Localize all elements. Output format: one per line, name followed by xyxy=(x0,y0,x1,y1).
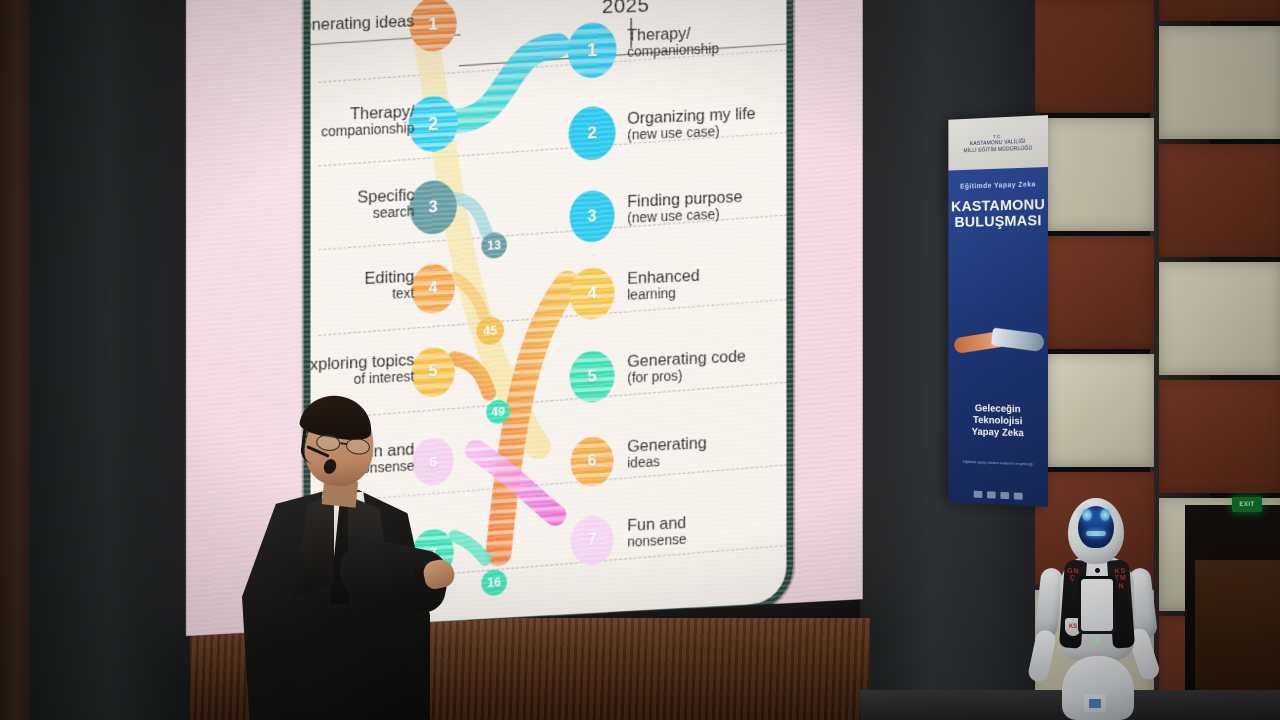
banner-kicker: Eğitimde Yapay Zeka xyxy=(948,181,1048,191)
wall-panel xyxy=(1035,354,1154,467)
robot-chest-tablet[interactable] xyxy=(1078,576,1116,634)
exit-sign-label: EXIT xyxy=(1239,502,1254,508)
right-label-2: Organizing my life(new use case) xyxy=(627,103,792,143)
left-dark-wall-panel xyxy=(30,0,190,720)
banner-body: Eğitimde Yapay Zeka KASTAMONU BULUŞMASI … xyxy=(948,167,1048,507)
wall-panel xyxy=(1159,380,1280,493)
banner-subtitle-line3: Yapay Zeka xyxy=(948,426,1048,441)
robot-mouth-icon xyxy=(1086,531,1106,536)
robot-base-badge xyxy=(1084,694,1106,712)
robot-hand-icon xyxy=(991,328,1045,353)
exit-sign: EXIT xyxy=(1232,497,1262,512)
robot-eye-left-icon xyxy=(1082,509,1092,521)
robot-status-led xyxy=(1095,638,1100,643)
banner-org-tc: T.C. xyxy=(993,133,1002,138)
event-banner: T.C. KASTAMONU VALİLİĞİ MİLLİ EĞİTİM MÜD… xyxy=(948,115,1048,507)
service-robot: GNÇ KSTMN KS xyxy=(1022,498,1172,720)
robot-crest-text: KS xyxy=(1069,624,1077,630)
handshake-illustration xyxy=(954,317,1042,377)
wall-panel xyxy=(1035,0,1154,113)
wall-panel xyxy=(1159,262,1280,375)
wall-panel xyxy=(1159,0,1280,21)
wall-panel xyxy=(1035,118,1154,231)
photo-scene: EXIT 2024 2025 xyxy=(0,0,1280,720)
right-label-1: Therapy/companionship xyxy=(627,21,792,61)
robot-camera-icon xyxy=(1095,568,1100,573)
wall-panel xyxy=(1035,236,1154,349)
banner-title: KASTAMONU BULUŞMASI xyxy=(948,197,1048,230)
banner-note: Eğitimde yapay zekânın kullanımı ve gele… xyxy=(948,459,1048,467)
robot-forearm-left xyxy=(1027,628,1057,683)
robot-eye-right-icon xyxy=(1100,509,1110,521)
presenter xyxy=(228,392,458,720)
wall-panel xyxy=(1159,144,1280,257)
wall-panel xyxy=(1159,26,1280,139)
banner-header: T.C. KASTAMONU VALİLİĞİ MİLLİ EĞİTİM MÜD… xyxy=(948,115,1048,170)
left-label-2: Therapy/companionship xyxy=(304,103,415,144)
banner-title-line2: BULUŞMASI xyxy=(948,213,1048,231)
banner-subtitle: Geleceğin Teknolojisi Yapay Zeka xyxy=(948,403,1048,441)
